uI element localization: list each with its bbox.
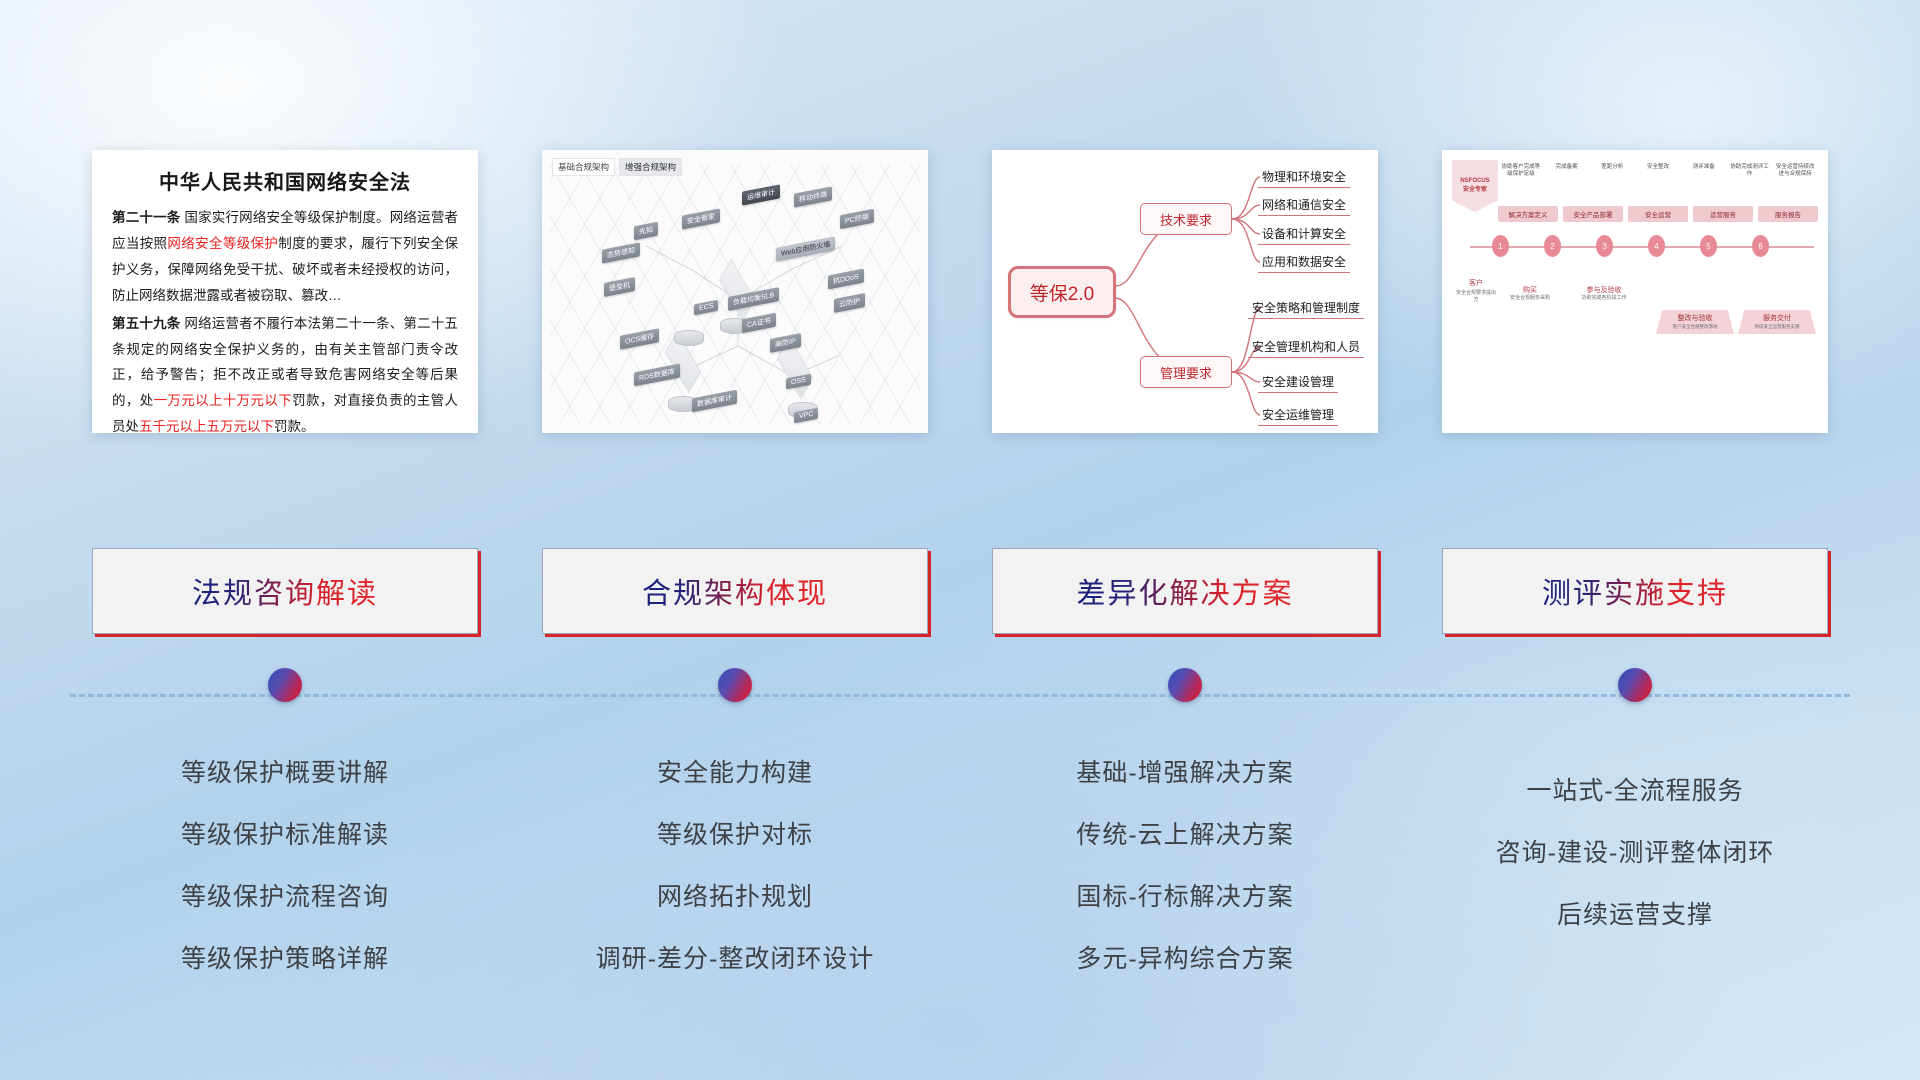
timeline-dot-4[interactable] [1618, 668, 1652, 702]
mindmap-leaf: 网络和通信安全 [1258, 196, 1350, 216]
section-title-box-assessment[interactable]: 测评实施支持 [1442, 548, 1828, 634]
mindmap-branch-management: 管理要求 [1140, 356, 1232, 388]
infographic-tag-title: 购买 [1523, 287, 1537, 294]
mindmap-leaf: 物理和环境安全 [1258, 168, 1350, 188]
timeline-dot-slot [992, 668, 1378, 702]
section-title-box-architecture[interactable]: 合规架构体现 [542, 548, 928, 634]
section-list-architecture: 安全能力构建 等级保护对标 网络拓扑规划 调研-差分-整改闭环设计 [542, 735, 928, 975]
architecture-tab-basic[interactable]: 基础合规架构 [552, 158, 615, 176]
architecture-tab-enhanced[interactable]: 增强合规架构 [619, 158, 682, 176]
law-article-21-highlight: 网络安全等级保护 [167, 236, 278, 251]
law-card-title: 中华人民共和国网络安全法 [112, 166, 458, 195]
reference-cards-row: 中华人民共和国网络安全法 第二十一条 国家实行网络安全等级保护制度。网络运营者应… [0, 150, 1920, 440]
timeline-dot-1[interactable] [268, 668, 302, 702]
infographic-tag: 购买 安全合规服务采购 [1504, 286, 1556, 302]
infographic-chip: 解决方案定义 [1498, 206, 1558, 222]
list-item: 等级保护对标 [657, 815, 813, 851]
list-item: 一站式-全流程服务 [1526, 771, 1743, 807]
infographic-customer-label: 客户 [1456, 278, 1496, 288]
architecture-canvas: 运维审计 安全管家 先知 态势感知 堡垒机 Web应用防火墙 抗DDoS 云防护… [542, 150, 928, 433]
card-service-timeline: NSFOCUS 安全专家 协助客户完成等级保护定级 完成备案 差距分析 安全整改… [1442, 150, 1828, 433]
infographic-step: 3 [1596, 235, 1613, 257]
nsfocus-brand: NSFOCUS [1460, 178, 1489, 185]
section-title-label: 差异化解决方案 [1076, 570, 1293, 612]
infographic-head-cell: 安全整改 [1637, 164, 1679, 178]
list-item: 等级保护标准解读 [181, 815, 389, 851]
card-compliance-architecture: 基础合规架构 增强合规架构 [542, 150, 928, 433]
nsfocus-badge: NSFOCUS 安全专家 [1452, 160, 1498, 212]
infographic-chip: 服务报告 [1758, 206, 1818, 222]
section-title-label: 法规咨询解读 [192, 570, 378, 612]
section-titles-row: 法规咨询解读 合规架构体现 差异化解决方案 测评实施支持 [0, 548, 1920, 634]
card-dengbao-mindmap: 等保2.0 技术要求 管理要求 物理和环境安全 网络和通信安全 设备和计算安全 … [992, 150, 1378, 433]
timeline-dot-2[interactable] [718, 668, 752, 702]
mindmap-leaf: 安全策略和管理制度 [1248, 299, 1364, 319]
infographic-head-cell: 安全运营持续改进与合规保持 [1774, 164, 1816, 178]
mindmap-root: 等保2.0 [1008, 266, 1116, 318]
list-item: 传统-云上解决方案 [1076, 815, 1293, 851]
mindmap-leaf: 安全建设管理 [1258, 373, 1338, 393]
infographic-head-cell: 协助完成测评工作 [1729, 164, 1771, 178]
law-article-59-label: 第五十九条 [112, 316, 180, 331]
mindmap-leaf: 安全管理机构和人员 [1248, 338, 1364, 358]
list-item: 后续运营支撑 [1557, 895, 1713, 931]
list-item: 基础-增强解决方案 [1076, 753, 1293, 789]
infographic-tag-title: 参与及验收 [1587, 287, 1622, 294]
infographic-chip: 安全运营 [1628, 206, 1688, 222]
timeline-dot-slot [92, 668, 478, 702]
infographic-head-cell: 协助客户完成等级保护定级 [1500, 164, 1542, 178]
section-list-regulation: 等级保护概要讲解 等级保护标准解读 等级保护流程咨询 等级保护策略详解 [92, 735, 478, 975]
nsfocus-brand-sub: 安全专家 [1463, 187, 1487, 194]
list-item: 安全能力构建 [657, 753, 813, 789]
architecture-cylinder [674, 330, 704, 346]
infographic-customer: 客户 安全合规要求提出方 [1456, 276, 1496, 303]
list-item: 网络拓扑规划 [657, 877, 813, 913]
mindmap-leaf: 应用和数据安全 [1258, 253, 1350, 273]
infographic-header-row: 协助客户完成等级保护定级 完成备案 差距分析 安全整改 测评准备 协助完成测评工… [1500, 164, 1816, 178]
list-item: 多元-异构综合方案 [1076, 939, 1293, 975]
infographic-tray-title: 整改与验收 [1662, 313, 1728, 323]
infographic-tag-sub: 安全合规服务采购 [1504, 295, 1556, 302]
infographic-customer-sub: 安全合规要求提出方 [1456, 289, 1496, 303]
list-item: 调研-差分-整改闭环设计 [596, 939, 875, 975]
infographic-tag-sub: 协助完成各阶段工作 [1566, 295, 1642, 302]
list-item: 等级保护流程咨询 [181, 877, 389, 913]
infographic-step: 6 [1752, 235, 1769, 257]
mindmap-branch-technical: 技术要求 [1140, 203, 1232, 235]
list-item: 咨询-建设-测评整体闭环 [1496, 833, 1775, 869]
law-article-21-label: 第二十一条 [112, 210, 180, 225]
section-list-assessment: 一站式-全流程服务 咨询-建设-测评整体闭环 后续运营支撑 [1442, 735, 1828, 975]
infographic-tray-sub: 持续安全运营服务支撑 [1744, 324, 1810, 330]
law-article-59: 第五十九条 网络运营者不履行本法第二十一条、第二十五条规定的网络安全保护义务的，… [112, 311, 458, 433]
mindmap-leaf: 安全运维管理 [1258, 406, 1338, 426]
infographic-tray-sub: 客户安全合规整改落地 [1662, 324, 1728, 330]
section-title-label: 合规架构体现 [642, 570, 828, 612]
infographic-tray: 整改与验收 客户安全合规整改落地 [1656, 310, 1734, 334]
list-item: 国标-行标解决方案 [1076, 877, 1293, 913]
infographic-tray-title: 服务交付 [1744, 313, 1810, 323]
infographic-step: 2 [1544, 235, 1561, 257]
timeline-dot-slot [1442, 668, 1828, 702]
section-title-label: 测评实施支持 [1542, 570, 1728, 612]
law-article-59-highlight-a: 一万元以上十万元以下 [154, 393, 293, 408]
section-title-box-regulation[interactable]: 法规咨询解读 [92, 548, 478, 634]
timeline-dot-3[interactable] [1168, 668, 1202, 702]
infographic-step: 1 [1492, 235, 1509, 257]
section-title-box-solution[interactable]: 差异化解决方案 [992, 548, 1378, 634]
infographic-axis: 1 2 3 4 5 6 [1470, 246, 1814, 248]
infographic-head-cell: 完成备案 [1546, 164, 1588, 178]
infographic-step: 5 [1700, 235, 1717, 257]
law-article-21: 第二十一条 国家实行网络安全等级保护制度。网络运营者应当按照网络安全等级保护制度… [112, 205, 458, 309]
law-article-59-highlight-b: 五千元以上五万元以下 [139, 419, 274, 433]
timeline-dot-slot [542, 668, 928, 702]
infographic-chip-row: 解决方案定义 安全产品部署 安全运营 运营服务 服务报告 [1498, 206, 1818, 222]
section-list-solution: 基础-增强解决方案 传统-云上解决方案 国标-行标解决方案 多元-异构综合方案 [992, 735, 1378, 975]
section-lists-row: 等级保护概要讲解 等级保护标准解读 等级保护流程咨询 等级保护策略详解 安全能力… [0, 735, 1920, 975]
list-item: 等级保护策略详解 [181, 939, 389, 975]
infographic-chip: 安全产品部署 [1563, 206, 1623, 222]
card-cybersecurity-law: 中华人民共和国网络安全法 第二十一条 国家实行网络安全等级保护制度。网络运营者应… [92, 150, 478, 433]
infographic-tag: 参与及验收 协助完成各阶段工作 [1566, 286, 1642, 302]
infographic-chip: 运营服务 [1693, 206, 1753, 222]
infographic-step: 4 [1648, 235, 1665, 257]
timeline-dots-row [0, 668, 1920, 702]
infographic-tray: 服务交付 持续安全运营服务支撑 [1738, 310, 1816, 334]
list-item: 等级保护概要讲解 [181, 753, 389, 789]
infographic-head-cell: 测评准备 [1683, 164, 1725, 178]
architecture-tabs: 基础合规架构 增强合规架构 [552, 158, 682, 176]
infographic-head-cell: 差距分析 [1591, 164, 1633, 178]
mindmap-leaf: 设备和计算安全 [1258, 225, 1350, 245]
law-article-59-text-c: 罚款。 [274, 419, 315, 433]
